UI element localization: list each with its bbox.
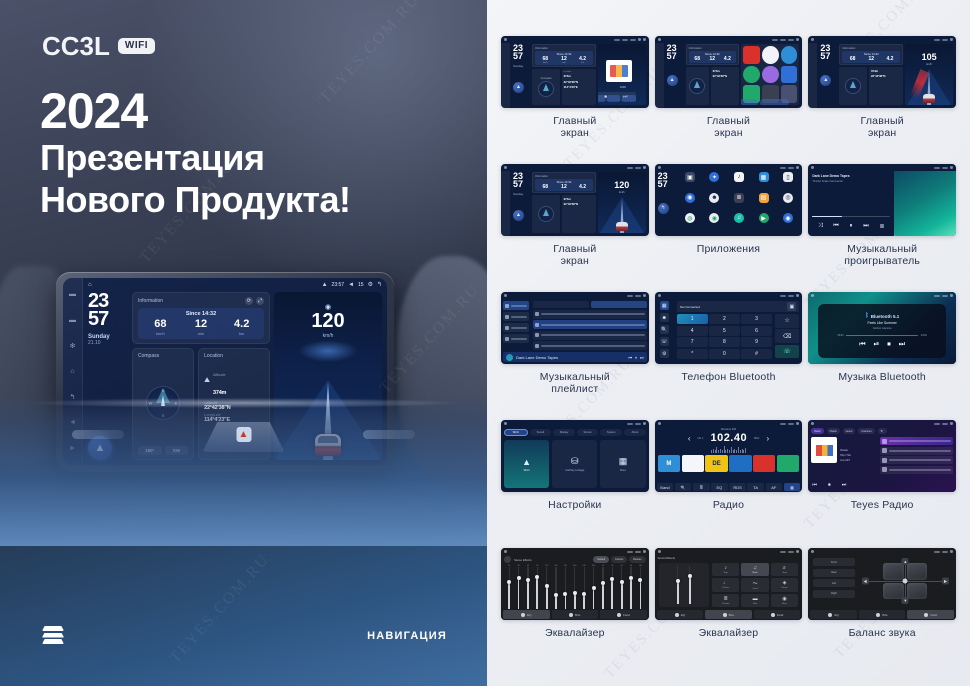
wifi-icon[interactable]: ▲ <box>322 282 328 288</box>
screenshot-radio[interactable]: Receive FM ‹ CH 1 102.40 MHz › <box>655 420 803 492</box>
key[interactable]: # <box>741 349 772 359</box>
nav-item-albums[interactable] <box>503 323 529 332</box>
key[interactable]: 4 <box>677 326 708 336</box>
grid-cell[interactable]: Radio Charts Genre Countries 🔍 Russia Po… <box>808 420 956 544</box>
eq-band[interactable]: 45 <box>514 565 522 609</box>
setup-icon[interactable]: ▦ <box>784 483 801 491</box>
tab-field[interactable]: Field <box>907 610 954 619</box>
app-tile[interactable]: ◎ <box>777 193 800 213</box>
stat-value: 4.2 <box>573 185 592 190</box>
app-shortcuts-widget <box>741 44 799 105</box>
tab-genre[interactable]: Genre <box>843 428 856 434</box>
mini-clock: 23 57 ▲ <box>667 44 684 105</box>
track-row[interactable] <box>533 331 647 340</box>
list-icon[interactable]: ≣ <box>879 223 884 230</box>
screenshot-playlist[interactable]: Dark Lane Demo Tapes ⏮ ⏸ ⏭ <box>501 292 649 364</box>
preset-button[interactable]: ◈Dance <box>771 578 798 591</box>
tab-charts[interactable]: Charts <box>827 428 840 434</box>
app-tile[interactable]: ▣ <box>679 172 702 192</box>
eq-band[interactable]: 16k <box>636 565 644 609</box>
location-title: Location <box>204 353 264 359</box>
tab-sound[interactable]: Sound <box>530 429 552 436</box>
screenshot-equalizer-presets[interactable]: Sound Effects ♪Pop ♫Rock ♬Jazz ♩Classic <box>655 548 803 620</box>
teyes-radio-body: Russia Pop / Hits Live 24/7 <box>808 435 956 476</box>
search-icon[interactable]: 🔍 <box>660 325 669 334</box>
tab-eq[interactable]: EQ <box>810 610 857 619</box>
eq-band[interactable]: 31 <box>505 565 513 609</box>
track-title: Feels Like Summer <box>868 321 897 325</box>
stop-icon[interactable]: ⏹ <box>828 482 831 488</box>
track-row[interactable] <box>533 310 647 319</box>
balance-body: Front Rear Left Right <box>808 556 956 606</box>
tab-bal[interactable]: BAL <box>552 610 599 619</box>
setting-card-carplay[interactable]: ⛁ CarPlay Linkage <box>552 440 597 488</box>
station-list <box>880 437 953 474</box>
thumb-status-bar <box>808 548 956 555</box>
tab-bal[interactable]: BAL <box>859 610 906 619</box>
key[interactable]: 5 <box>709 326 740 336</box>
keypad-icon[interactable]: ▦ <box>660 301 669 310</box>
tab-field[interactable]: Field <box>754 610 801 619</box>
settings-icon[interactable]: ⚙ <box>368 281 373 288</box>
speed-value: 105 <box>922 53 937 62</box>
progress-bar[interactable]: 00:00 04:02 <box>837 334 926 337</box>
settings-icon <box>950 550 953 553</box>
eq-band[interactable]: 8k <box>627 565 635 609</box>
screenshot-music-player[interactable]: Dark Lane Demo Tapes Thunder Snake Instr… <box>808 164 956 236</box>
station-row[interactable] <box>880 447 953 455</box>
slider[interactable] <box>687 566 692 604</box>
grid-cell[interactable]: Stereo Effects Default Custom Restore 31… <box>501 548 649 672</box>
eq-band[interactable]: 2k <box>608 565 616 609</box>
location-card: Location 374m 22°42'38"N 114°4'23"E <box>562 69 596 105</box>
grid-icon: ▦ <box>619 456 628 467</box>
star-icon[interactable]: ☆ <box>775 314 799 328</box>
preset-label: Rock <box>753 572 758 574</box>
eq-band[interactable]: 630 <box>580 565 588 609</box>
wifi-icon: ▲ <box>522 457 531 467</box>
eq-band[interactable]: 250 <box>561 565 569 609</box>
altitude-value: 374m <box>564 74 595 78</box>
settings-layout: Wi-Fi Sound Display Screen System About … <box>501 420 649 492</box>
stat-value: 12 <box>862 57 881 62</box>
chevron-right-icon[interactable]: › <box>766 434 769 443</box>
effect-icon <box>504 556 511 563</box>
btmusic-layout: ᛒ Bluetooth 5.1 Feels Like Summer Carbon… <box>808 292 956 364</box>
trip-since: Since 14:32 <box>690 52 735 56</box>
app-tile[interactable]: ▦ <box>752 172 775 192</box>
visualizer <box>894 171 956 236</box>
app-icon-music: ♪ <box>734 172 744 182</box>
next-icon[interactable]: ⏭ <box>640 355 644 360</box>
clock-minutes: 57 <box>658 180 676 188</box>
eq-band[interactable]: 1k <box>599 565 607 609</box>
app-icon-calculator: ▦ <box>759 172 769 182</box>
key[interactable]: * <box>677 349 708 359</box>
time-icon <box>942 423 948 425</box>
grid-cell[interactable]: Dark Lane Demo Tapes ⏮ ⏸ ⏭ Музыкальныйпл… <box>501 292 649 416</box>
grid-cell[interactable]: 23 57 ▲ Information Since 14:32 68 <box>808 36 956 160</box>
nav-item-folders[interactable] <box>503 334 529 343</box>
prev-icon[interactable]: ⏮ <box>812 482 817 488</box>
thumb-status-bar <box>808 420 956 427</box>
hazard-triangle-icon[interactable]: ▲ <box>236 427 251 442</box>
progress-bar[interactable] <box>812 216 890 218</box>
information-card: Information Since 14:32 68 12 4.2 <box>532 172 596 193</box>
app-tile[interactable]: ◍ <box>679 213 702 233</box>
settings-icon <box>796 550 799 553</box>
tab-radio[interactable]: Radio <box>811 428 823 434</box>
nav-item-artists[interactable] <box>503 312 529 321</box>
latitude-value: 22°42'38"N <box>713 74 738 78</box>
search-icon[interactable]: 🔍 <box>878 428 887 434</box>
information-card: Information Since 14:32 68 12 4.2 <box>686 44 739 65</box>
watermark: TEYES.COM.RU <box>167 551 274 667</box>
compass-title: Compass <box>541 77 552 80</box>
app-icon-spotify: ◍ <box>685 213 695 223</box>
more-icon[interactable]: ▣ <box>787 302 796 311</box>
information-card[interactable]: Information ⟳ ⤢ Since 14:32 68 <box>132 292 270 344</box>
screenshot-bluetooth-phone[interactable]: ▦ ☻ 🔍 ☏ ⚙ Not Connected ▣ 1 <box>655 292 803 364</box>
app-icon-music <box>743 46 760 64</box>
screenshot-equalizer[interactable]: Stereo Effects Default Custom Restore 31… <box>501 548 649 620</box>
car-icon: ⛁ <box>571 456 579 467</box>
speed-value: 120 <box>614 181 629 190</box>
key[interactable]: 9 <box>741 337 772 347</box>
radio-frequency: 102.40 <box>710 432 747 444</box>
key[interactable]: 8 <box>709 337 740 347</box>
tab-local[interactable] <box>533 301 589 308</box>
radio-presets: M DE <box>655 453 803 472</box>
cell-caption: Настройки <box>548 499 601 511</box>
preset-button[interactable]: ♩Classic <box>712 578 739 591</box>
app-tile[interactable]: ≣ <box>728 193 751 213</box>
stop-icon[interactable]: ⏹ <box>887 341 891 349</box>
screenshot-apps[interactable]: 23 57 ↰ ▣ ✦ ♪ ▦ ▯ ◉ ☻ ≣ ▤ ◎ <box>655 164 803 236</box>
balance-preset[interactable]: Right <box>813 590 854 598</box>
slider[interactable] <box>675 566 680 604</box>
key[interactable]: 7 <box>677 337 708 347</box>
dash-lower-console: ▲ <box>0 396 487 546</box>
stat-value: 4.2 <box>221 319 262 330</box>
station-row[interactable] <box>880 466 953 474</box>
eq-band[interactable]: 4k <box>618 565 626 609</box>
mountain-icon: ⛰ <box>204 377 210 385</box>
time-total: 04:02 <box>921 334 927 337</box>
play-pause-icon[interactable]: ⏯ <box>874 341 880 349</box>
balance-preset[interactable]: Left <box>813 579 854 587</box>
grid-cell[interactable]: ▦ ☻ 🔍 ☏ ⚙ Not Connected ▣ 1 <box>655 292 803 416</box>
chevron-up-icon[interactable]: ▲ <box>902 558 909 565</box>
tab-label: EQ <box>834 613 838 617</box>
tab-usb[interactable] <box>591 301 647 308</box>
next-icon[interactable]: ⏭ <box>899 341 905 349</box>
app-icon-files: ▤ <box>759 193 769 203</box>
preset-tile[interactable]: DE <box>705 455 727 472</box>
thumb-status-bar <box>655 548 803 555</box>
app-icon-dvr: ▣ <box>685 172 695 182</box>
tab-display[interactable]: Display <box>553 429 575 436</box>
preset-button[interactable]: ♬Jazz <box>771 563 798 576</box>
tab-about[interactable]: About <box>624 429 646 436</box>
preset-label: Classic <box>722 587 729 589</box>
preset-button[interactable]: ◉Bass <box>771 594 798 607</box>
screenshot-bluetooth-music[interactable]: ᛒ Bluetooth 5.1 Feels Like Summer Carbon… <box>808 292 956 364</box>
seat-balance-pad[interactable]: ▲ ▼ ◀ ▶ <box>860 558 951 604</box>
card-label: CarPlay Linkage <box>565 469 584 472</box>
ta-button[interactable]: TA <box>747 483 764 491</box>
tab-eq[interactable]: EQ <box>503 610 550 619</box>
prev-icon[interactable]: ⏮ <box>833 223 838 230</box>
app-icon-phone <box>743 66 760 84</box>
cell-caption: Главныйэкран <box>861 115 904 140</box>
grid-cell[interactable]: 23 57 ▲ Information Since 14:32 68 <box>655 36 803 160</box>
player-layout: Dark Lane Demo Tapes Thunder Snake Instr… <box>808 164 956 236</box>
adas-speed-panel: 105 km/h <box>905 44 953 105</box>
stat-unit: min <box>181 331 222 336</box>
next-icon[interactable]: ⏭ <box>842 482 847 488</box>
stat-value: 68 <box>690 57 705 62</box>
prev-icon[interactable]: ⏮ <box>859 341 865 349</box>
tab-label: EQ <box>681 613 685 617</box>
app-tile[interactable]: ◉ <box>703 213 726 233</box>
screenshot-home-speed[interactable]: 23 57 Sunday ▲ Information Since 14:32 <box>501 164 649 236</box>
altitude-row: ⛰ Altitude 374m <box>204 363 264 399</box>
station-row[interactable] <box>880 456 953 464</box>
track-row[interactable] <box>533 320 647 329</box>
preset-button[interactable]: ♪Pop <box>712 563 739 576</box>
preset-default[interactable]: Default <box>593 556 609 563</box>
preset-restore[interactable]: Restore <box>629 556 645 563</box>
rail-settings-icon[interactable]: ✻ <box>68 341 77 350</box>
trip-since: Since 14:32 <box>843 52 899 56</box>
eq-band[interactable]: 160 <box>552 565 560 609</box>
seat-rear-right <box>907 583 928 600</box>
grid-cell[interactable]: Sound Effects ♪Pop ♫Rock ♬Jazz ♩Classic <box>655 548 803 672</box>
rail-mute-icon[interactable]: ▬ <box>68 316 77 325</box>
tab-wifi[interactable]: Wi-Fi <box>504 429 528 436</box>
search-icon[interactable]: 🔍 <box>675 483 692 491</box>
preset-button[interactable]: 〜Vocal <box>741 578 768 591</box>
balance-center-point[interactable] <box>903 579 908 584</box>
screenshot-home-media[interactable]: 23 57 Sunday ▲ Information Since 14:32 <box>501 36 649 108</box>
screenshot-teyes-radio[interactable]: Radio Charts Genre Countries 🔍 Russia Po… <box>808 420 956 492</box>
prev-icon[interactable]: ⏮ <box>628 355 632 360</box>
app-tile[interactable]: ♫ <box>728 213 751 233</box>
chevron-down-icon[interactable]: ▼ <box>902 597 909 604</box>
frequency-scale[interactable] <box>655 446 803 453</box>
eq-band[interactable]: 125 <box>543 565 551 609</box>
information-title: Information <box>842 47 900 50</box>
stat-value: 12 <box>181 319 222 330</box>
chevron-left-icon[interactable]: ◀ <box>862 578 869 585</box>
tab-countries[interactable]: Countries <box>858 428 874 434</box>
balance-preset[interactable]: Front <box>813 558 854 566</box>
navigation-label: НАВИГАЦИЯ <box>367 630 447 642</box>
balance-layout: Front Rear Left Right <box>808 548 956 620</box>
home-icon[interactable]: ⌂ <box>88 282 92 288</box>
compass-dial <box>538 206 554 222</box>
eq-band[interactable]: 63 <box>524 565 532 609</box>
tab-label: Field <box>930 613 937 617</box>
tab-screen[interactable]: Screen <box>577 429 599 436</box>
settings-icon <box>950 294 953 297</box>
backspace-icon[interactable]: ⌫ <box>775 329 799 343</box>
app-tile[interactable]: ✦ <box>703 172 726 192</box>
road-glow <box>298 340 358 362</box>
cell-caption: Музыкальныйпроигрыватель <box>844 243 920 268</box>
app-tile[interactable]: ▶ <box>752 213 775 233</box>
screenshot-home-apps[interactable]: 23 57 ▲ Information Since 14:32 68 <box>655 36 803 108</box>
screenshot-settings[interactable]: Wi-Fi Sound Display Screen System About … <box>501 420 649 492</box>
eq-button[interactable]: EQ <box>711 483 728 491</box>
media-shortcuts <box>598 95 636 102</box>
meta-genre: Pop / Hits <box>840 454 877 457</box>
key[interactable]: 6 <box>741 326 772 336</box>
equalizer-layout: Stereo Effects Default Custom Restore 31… <box>501 548 649 620</box>
tab-label: BAL <box>575 613 581 617</box>
cell-caption: Радио <box>713 499 744 511</box>
eq-band[interactable]: 80 <box>533 565 541 609</box>
preset-button[interactable]: ♫Rock <box>741 563 768 576</box>
preset-label: Bass <box>782 603 787 605</box>
key[interactable]: 2 <box>709 314 740 324</box>
preset-tile[interactable] <box>753 455 775 472</box>
chevron-right-icon[interactable]: ▶ <box>942 578 949 585</box>
app-tile[interactable]: ◉ <box>679 193 702 213</box>
rail-power-icon[interactable]: ▬ <box>68 290 77 299</box>
key[interactable]: 0 <box>709 349 740 359</box>
equalizer2-body: ♪Pop ♫Rock ♬Jazz ♩Classic 〜Vocal ◈Dance … <box>655 562 803 608</box>
back-icon[interactable]: ↰ <box>377 281 382 288</box>
grid-cell[interactable]: 23 57 Sunday ▲ Information Since 14:32 <box>501 36 649 160</box>
pause-icon[interactable]: ⏸ <box>850 223 853 230</box>
app-tile[interactable]: ♪ <box>728 172 751 192</box>
information-title: Information <box>535 175 593 178</box>
contacts-icon[interactable]: ☻ <box>660 313 669 322</box>
setting-card-more[interactable]: ▦ More <box>600 440 645 488</box>
time-elapsed: 00:00 <box>837 334 843 337</box>
screenshot-sound-balance[interactable]: Front Rear Left Right <box>808 548 956 620</box>
settings-icon <box>950 422 953 425</box>
status-volume: 15 <box>358 282 364 288</box>
preset-tile[interactable] <box>729 455 751 472</box>
key[interactable]: 1 <box>677 314 708 324</box>
band-button[interactable]: Band <box>657 483 674 491</box>
volume-icon[interactable]: ◄ <box>348 282 354 288</box>
preset-tile[interactable] <box>777 455 799 472</box>
preset-tile[interactable] <box>682 455 704 472</box>
tab-bal[interactable]: BAL <box>705 610 752 619</box>
grid-cell[interactable]: ᛒ Bluetooth 5.1 Feels Like Summer Carbon… <box>808 292 956 416</box>
screens-grid: 23 57 Sunday ▲ Information Since 14:32 <box>501 36 956 672</box>
mini-clock: 23 57 ↰ <box>658 172 676 233</box>
station-row[interactable] <box>880 437 953 445</box>
app-tile[interactable]: ◉ <box>777 213 800 233</box>
preset-button[interactable]: ▬Flat <box>741 594 768 607</box>
track-row[interactable] <box>533 341 647 350</box>
status-bar: ⌂ ▲ 23:57 ◄ 15 ⚙ ↰ <box>83 278 387 291</box>
altitude-value: 374m <box>713 69 738 73</box>
af-button[interactable]: AF <box>766 483 783 491</box>
eq-band[interactable]: 400 <box>571 565 579 609</box>
app-tile[interactable]: ▯ <box>777 172 800 192</box>
preset-label: Custom <box>722 603 730 605</box>
nav-item-all[interactable] <box>503 301 529 310</box>
logo-text: CC3L <box>42 33 110 59</box>
next-icon[interactable]: ⏭ <box>863 223 868 230</box>
chevron-left-icon[interactable]: ‹ <box>688 434 691 443</box>
wifi-icon <box>934 295 940 297</box>
key[interactable]: 3 <box>741 314 772 324</box>
stat-unit: km/h <box>536 62 555 64</box>
btmusic-card: ᛒ Bluetooth 5.1 Feels Like Summer Carbon… <box>818 304 946 358</box>
trip-stat: 4.2 km <box>221 319 262 336</box>
refresh-icon[interactable]: ⟳ <box>245 297 253 305</box>
equalizer2-layout: Sound Effects ♪Pop ♫Rock ♬Jazz ♩Classic <box>655 548 803 620</box>
grid-cell[interactable]: 23 57 ↰ ▣ ✦ ♪ ▦ ▯ ◉ ☻ ≣ ▤ ◎ <box>655 164 803 288</box>
home-icon <box>811 550 814 553</box>
longitude-value: 114°4'23"E <box>564 85 595 89</box>
rds-button[interactable]: RDS <box>729 483 746 491</box>
grid-cell[interactable]: Wi-Fi Sound Display Screen System About … <box>501 420 649 544</box>
expand-icon[interactable]: ⤢ <box>256 297 264 305</box>
preset-label: Vocal <box>752 588 757 590</box>
stat-value: 4.2 <box>881 57 900 62</box>
grid-cell[interactable]: 23 57 Sunday ▲ Information Since 14:32 <box>501 164 649 288</box>
home-icon <box>658 550 661 553</box>
tab-field[interactable]: Field <box>600 610 647 619</box>
altitude-value: 374m <box>564 197 595 201</box>
equalizer-header: Stereo Effects Default Custom Restore <box>501 556 649 565</box>
playlist-tabs <box>533 301 647 308</box>
clock-minutes: 57 <box>820 52 837 60</box>
navigation-arrow-icon: ▲ <box>513 82 524 93</box>
app-icon-radio: ◉ <box>783 213 793 223</box>
grid-cell[interactable]: Receive FM ‹ CH 1 102.40 MHz › <box>655 420 803 544</box>
app-tile[interactable]: ☻ <box>703 193 726 213</box>
grid-cell[interactable]: Front Rear Left Right <box>808 548 956 672</box>
setting-card-wifi[interactable]: ▲ Wi-Fi <box>504 440 549 488</box>
call-log-icon[interactable]: ☏ <box>660 337 669 346</box>
trip-since: Since 14:32 <box>140 311 262 317</box>
list-icon[interactable]: ≣ <box>693 483 710 491</box>
headline-line-1: Презентация <box>40 137 351 179</box>
app-tile[interactable]: ▤ <box>752 193 775 213</box>
eq-band[interactable]: 800 <box>589 565 597 609</box>
clock-day: Sunday <box>513 192 530 196</box>
pause-icon[interactable]: ⏸ <box>635 355 637 360</box>
preset-custom[interactable]: Custom <box>611 556 627 563</box>
equalizer-tabs: EQ BAL Field <box>657 610 801 619</box>
screenshot-home-adas[interactable]: 23 57 ▲ Information Since 14:32 68 <box>808 36 956 108</box>
now-playing-bar[interactable]: Dark Lane Demo Tapes ⏮ ⏸ ⏭ <box>503 352 647 362</box>
call-icon[interactable]: ☏ <box>775 345 799 359</box>
clock-day: Sunday <box>513 64 530 68</box>
settings-icon[interactable]: ⚙ <box>660 349 669 358</box>
rail-home-icon[interactable]: ⌂ <box>68 367 77 376</box>
balance-preset[interactable]: Rear <box>813 569 854 577</box>
speed-unit: km/h <box>323 333 334 339</box>
grid-cell[interactable]: Dark Lane Demo Tapes Thunder Snake Instr… <box>808 164 956 288</box>
shuffle-icon[interactable]: ⤨ <box>818 223 823 230</box>
time-icon <box>942 551 948 553</box>
player-info: Dark Lane Demo Tapes Thunder Snake Instr… <box>808 171 894 236</box>
preset-button[interactable]: ≣Custom <box>712 594 739 607</box>
preset-tile[interactable]: M <box>658 455 680 472</box>
tab-system[interactable]: System <box>600 429 622 436</box>
tab-eq[interactable]: EQ <box>657 610 704 619</box>
